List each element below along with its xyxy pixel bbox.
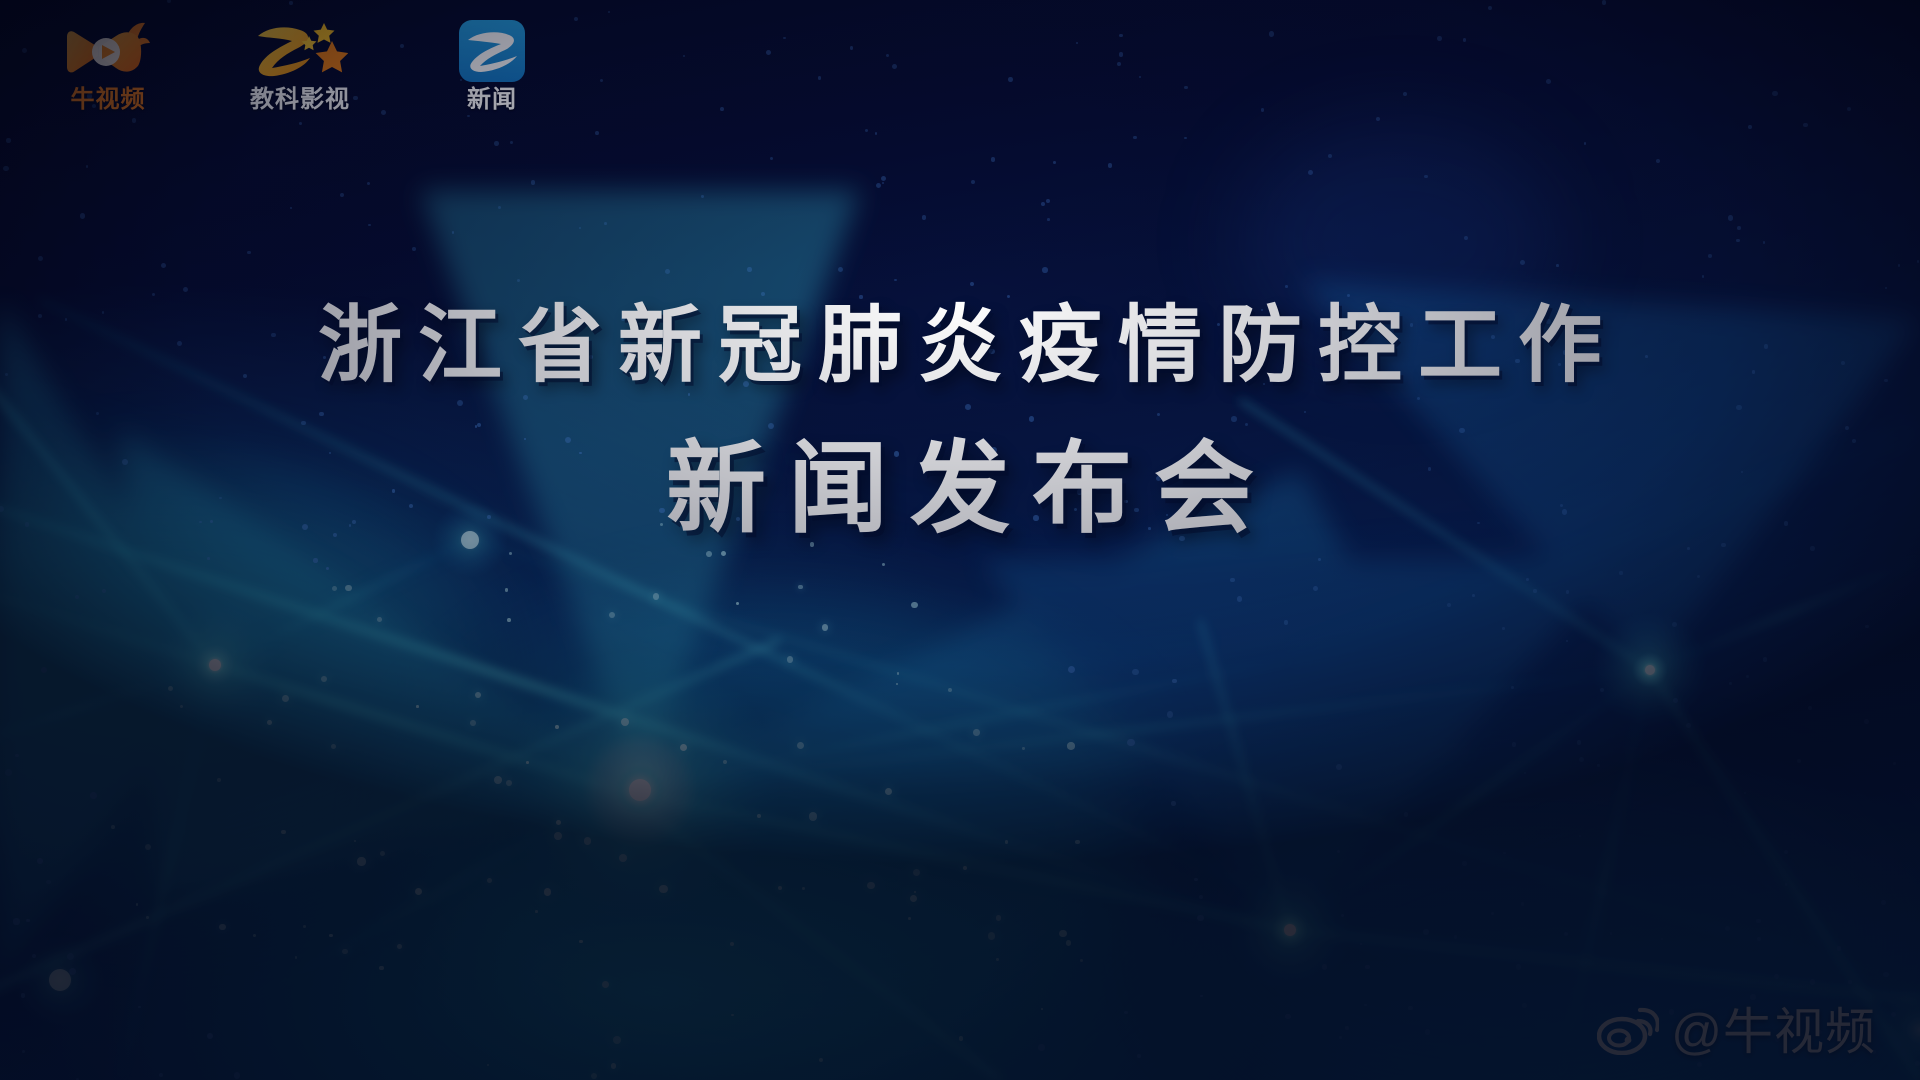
title-line-1: 浙江省新冠肺炎疫情防控工作	[0, 296, 1920, 395]
logo-caption-niu-shipin: 牛视频	[71, 88, 146, 112]
weibo-handle: @牛视频	[1671, 1007, 1876, 1057]
bull-play-icon	[65, 18, 151, 84]
zhejiang-z-stars-icon	[252, 18, 348, 84]
poster-title-block: 浙江省新冠肺炎疫情防控工作 新闻发布会	[0, 296, 1920, 545]
title-line-2: 新闻发布会	[0, 433, 1920, 545]
poster-canvas: 牛视频 教科影视	[0, 0, 1920, 1080]
logo-caption-xinwen: 新闻	[467, 88, 517, 112]
zhejiang-news-z-icon	[453, 18, 531, 84]
logo-caption-jiaoke-yingshi: 教科影视	[250, 88, 350, 112]
logo-niu-shipin: 牛视频	[46, 18, 170, 112]
weibo-watermark: @牛视频	[1597, 1003, 1876, 1060]
logo-xinwen: 新闻	[430, 18, 554, 112]
logo-jiaoke-yingshi: 教科影视	[238, 18, 362, 112]
weibo-icon	[1597, 1003, 1659, 1060]
channel-logo-row: 牛视频 教科影视	[46, 18, 554, 112]
